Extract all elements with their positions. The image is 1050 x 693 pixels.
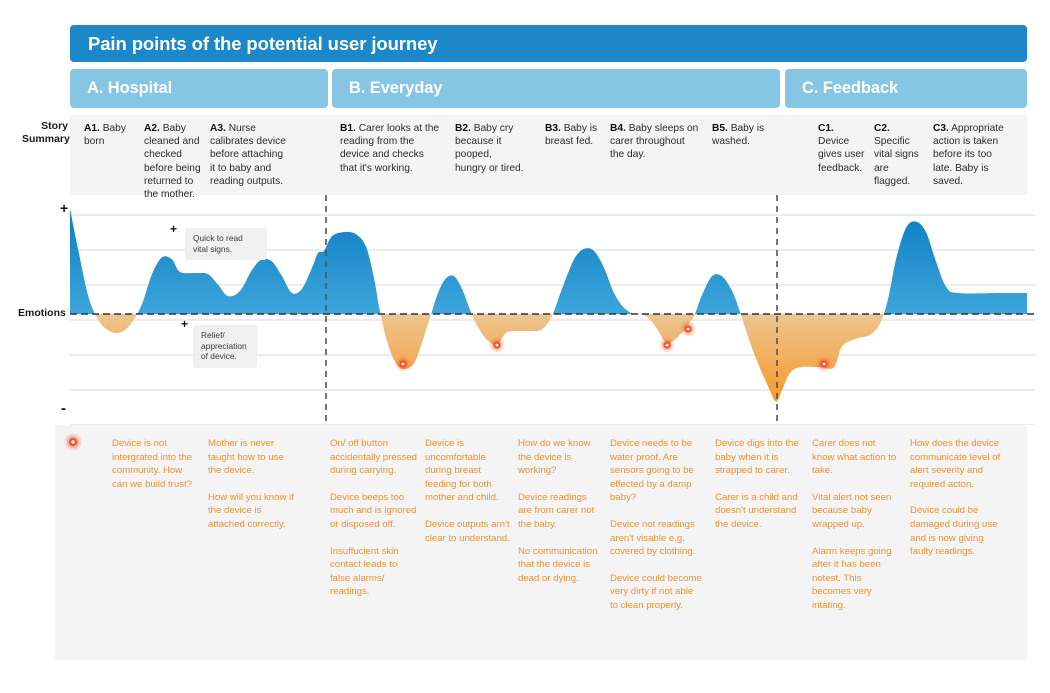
story-cell-code: C3. (933, 123, 949, 134)
story-cell-code: A2. (144, 123, 160, 134)
story-summary-cell: A2. Baby cleaned and checked before bein… (144, 122, 206, 201)
story-summary-cell: B5. Baby is washed. (712, 122, 774, 148)
pain-point-item: Device beeps too much and is ignored or … (330, 491, 418, 532)
story-summary-cell: B1. Carer looks at the reading from the … (340, 122, 440, 175)
pain-point-column: Device digs into the baby when it is str… (715, 437, 801, 545)
pain-point-item: How will you know if the device is attac… (208, 491, 294, 532)
pain-point-item: On/ off button accidentally pressed duri… (330, 437, 418, 478)
pain-point-item: Vital alert not seen because baby wrappe… (812, 491, 898, 532)
pain-point-item: Insuffucient skin contact leads to false… (330, 545, 418, 599)
pain-point-item: Device is uncomfortable during breast fe… (425, 437, 513, 505)
story-cell-code: A3. (210, 123, 226, 134)
story-summary-cell: B2. Baby cry because it pooped, hungry o… (455, 122, 525, 175)
pain-point-item: Mother is never taught how to use the de… (208, 437, 294, 478)
pain-point-item: How does the device communicate level of… (910, 437, 1006, 491)
story-cell-code: B2. (455, 123, 471, 134)
pain-point-item: Device is not intergrated into the commu… (112, 437, 198, 491)
pain-point-column: Carer does not know what action to take.… (812, 437, 898, 626)
story-cell-code: B1. (340, 123, 356, 134)
pain-point-dot-icon[interactable] (659, 337, 675, 353)
pain-point-item: Device digs into the baby when it is str… (715, 437, 801, 478)
pain-point-dot-icon[interactable] (680, 321, 696, 337)
pain-point-item: Carer does not know what action to take. (812, 437, 898, 478)
story-cell-code: C1. (818, 123, 834, 134)
pain-point-legend-icon (64, 433, 82, 451)
story-cell-code: B5. (712, 123, 728, 134)
pain-point-column: Device needs to be water proof. Are sens… (610, 437, 702, 626)
phase-header-1: A. Hospital (70, 69, 328, 108)
pain-point-dot-icon[interactable] (816, 356, 832, 372)
phase-header-label: C. Feedback (785, 79, 898, 98)
chart-callout-2: Relief/ appreciation of device. (193, 325, 257, 368)
story-summary-cell: C3. Appropriate action is taken before i… (933, 122, 1013, 188)
story-label-line-1: Story (22, 120, 68, 133)
pain-point-column: Device is not intergrated into the commu… (112, 437, 198, 504)
journey-map-canvas: Pain points of the potential user journe… (0, 0, 1050, 693)
story-label-line-2: Summary (22, 133, 68, 146)
pain-point-item: Carer is a child and doesn't understand … (715, 491, 801, 532)
pain-point-column: Mother is never taught how to use the de… (208, 437, 294, 545)
story-cell-code: A1. (84, 123, 100, 134)
axis-positive-label: + (60, 200, 68, 216)
pain-point-item: Device needs to be water proof. Are sens… (610, 437, 702, 505)
phase-header-2: B. Everyday (332, 69, 780, 108)
story-summary-row-label: Story Summary (22, 120, 68, 146)
story-summary-cell: B3. Baby is breast fed. (545, 122, 605, 148)
story-cell-code: B4. (610, 123, 626, 134)
phase-header-label: B. Everyday (332, 79, 442, 98)
pain-point-column: How does the device communicate level of… (910, 437, 1006, 572)
page-title-bar: Pain points of the potential user journe… (70, 25, 1027, 62)
emotion-curve-svg (0, 195, 1050, 425)
axis-negative-label: - (61, 400, 66, 417)
callout-plus-icon: + (170, 222, 177, 236)
page-title: Pain points of the potential user journe… (70, 33, 438, 55)
pain-point-item: How do we know the device is working? (518, 437, 603, 478)
pain-point-column: How do we know the device is working?Dev… (518, 437, 603, 598)
story-summary-cell: C2. Specific vital signs are flagged. (874, 122, 926, 188)
story-cell-code: C2. (874, 123, 890, 134)
pain-point-item: Device outputs arn't clear to understand… (425, 518, 513, 545)
story-summary-cell: A3. Nurse calibrates device before attac… (210, 122, 288, 188)
emotion-chart (0, 195, 1050, 425)
pain-point-item: Device not readings aren't visable e.g. … (610, 518, 702, 559)
pain-point-column: On/ off button accidentally pressed duri… (330, 437, 418, 612)
pain-point-dot-icon[interactable] (395, 356, 411, 372)
pain-point-item: Device could be damaged during use and i… (910, 504, 1006, 558)
story-cell-code: B3. (545, 123, 561, 134)
chart-callout-1: Quick to read vital signs. (185, 228, 267, 260)
emotions-axis-label: Emotions (18, 307, 66, 319)
pain-point-item: Alarm keeps going after it has been note… (812, 545, 898, 613)
pain-point-item: Device readings are from carer not the b… (518, 491, 603, 532)
pain-point-dot-icon[interactable] (489, 337, 505, 353)
story-summary-cell: C1. Device gives user feedback. (818, 122, 866, 175)
pain-point-item: Device could become very dirty if not ab… (610, 572, 702, 613)
pain-point-item: No communication that the device is dead… (518, 545, 603, 586)
phase-header-label: A. Hospital (70, 79, 172, 98)
story-summary-cell: A1. Baby born (84, 122, 142, 148)
callout-plus-icon: + (181, 317, 188, 331)
story-summary-cell: B4. Baby sleeps on carer throughout the … (610, 122, 700, 162)
phase-header-3: C. Feedback (785, 69, 1027, 108)
pain-point-column: Device is uncomfortable during breast fe… (425, 437, 513, 558)
